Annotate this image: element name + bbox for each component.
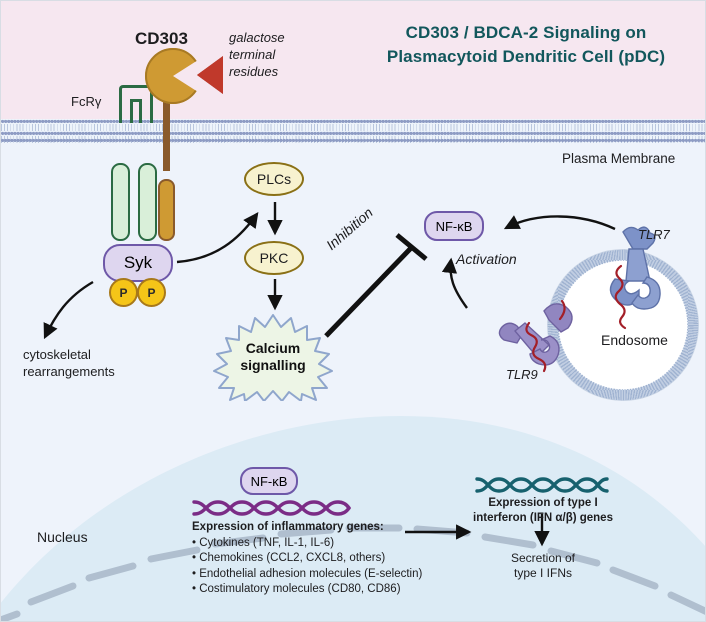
activation-label: Activation <box>456 251 517 267</box>
secretion-block: Secretion of type I IFNs <box>488 551 598 581</box>
list-item: • Endothelial adhesion molecules (E-sele… <box>192 567 422 583</box>
pkc-label: PKC <box>260 250 289 266</box>
galactose-residues-label: galactose terminal residues <box>229 29 285 80</box>
endosome-label: Endosome <box>601 332 668 348</box>
phospho-badge-2: P <box>137 278 166 307</box>
cytoskeletal-label: cytoskeletal rearrangements <box>23 346 115 380</box>
plasma-membrane <box>1 119 706 143</box>
plcs-node[interactable]: PLCs <box>244 162 304 196</box>
cd303-cytoplasmic-tail <box>158 179 175 241</box>
fcr-gamma-tm-2 <box>138 163 157 241</box>
title-line-1: CD303 / BDCA-2 Signaling on <box>361 21 691 45</box>
fcr-gamma-arm-inner <box>130 99 142 123</box>
fcr-gamma-label: FcRγ <box>71 94 101 109</box>
calcium-line-2: signalling <box>240 357 305 373</box>
list-item: • Chemokines (CCL2, CXCL8, others) <box>192 551 422 567</box>
pacman-lectin-icon <box>145 48 201 104</box>
phospho-label-2: P <box>147 286 155 300</box>
syk-node[interactable]: Syk <box>103 244 173 282</box>
secretion-line-2: type I IFNs <box>488 566 598 581</box>
syk-label: Syk <box>124 253 152 273</box>
pkc-node[interactable]: PKC <box>244 241 304 275</box>
nfkb-nuclear-node[interactable]: NF-κB <box>240 467 298 495</box>
page-title: CD303 / BDCA-2 Signaling on Plasmacytoid… <box>361 21 691 69</box>
interferon-genes-block: Expression of type I interferon (IFN α/β… <box>462 496 624 525</box>
title-line-2: Plasmacytoid Dendritic Cell (pDC) <box>361 45 691 69</box>
nfkb-cyto-label: NF-κB <box>436 219 473 234</box>
nfkb-cytoplasmic-node[interactable]: NF-κB <box>424 211 484 241</box>
diagram-canvas: CD303 / BDCA-2 Signaling on Plasmacytoid… <box>0 0 706 622</box>
endosome-vesicle-icon <box>547 249 699 401</box>
plcs-label: PLCs <box>257 171 291 187</box>
inflammatory-heading: Expression of inflammatory genes: <box>192 521 384 533</box>
dna-helix-teal-icon <box>475 475 610 495</box>
starburst-icon: Calcium signalling <box>209 313 337 401</box>
phospho-label-1: P <box>119 286 127 300</box>
nfkb-nuclear-label: NF-κB <box>251 474 288 489</box>
phospho-badge-1: P <box>109 278 138 307</box>
inflammatory-genes-block: Expression of inflammatory genes: • Cyto… <box>192 520 422 598</box>
nucleus-label: Nucleus <box>37 529 88 545</box>
secretion-line-1: Secretion of <box>488 551 598 566</box>
plasma-membrane-label: Plasma Membrane <box>562 151 675 166</box>
list-item: • Costimulatory molecules (CD80, CD86) <box>192 582 422 598</box>
triangle-ligand-icon <box>197 56 223 94</box>
calcium-line-1: Calcium <box>246 340 300 356</box>
dna-helix-purple-icon <box>192 498 352 518</box>
fcr-gamma-tm-1 <box>111 163 130 241</box>
ifn-line-2: interferon (IFN α/β) genes <box>462 511 624 526</box>
list-item: • Cytokines (TNF, IL-1, IL-6) <box>192 536 422 552</box>
cd303-label: CD303 <box>135 29 188 49</box>
ifn-line-1: Expression of type I <box>462 496 624 511</box>
